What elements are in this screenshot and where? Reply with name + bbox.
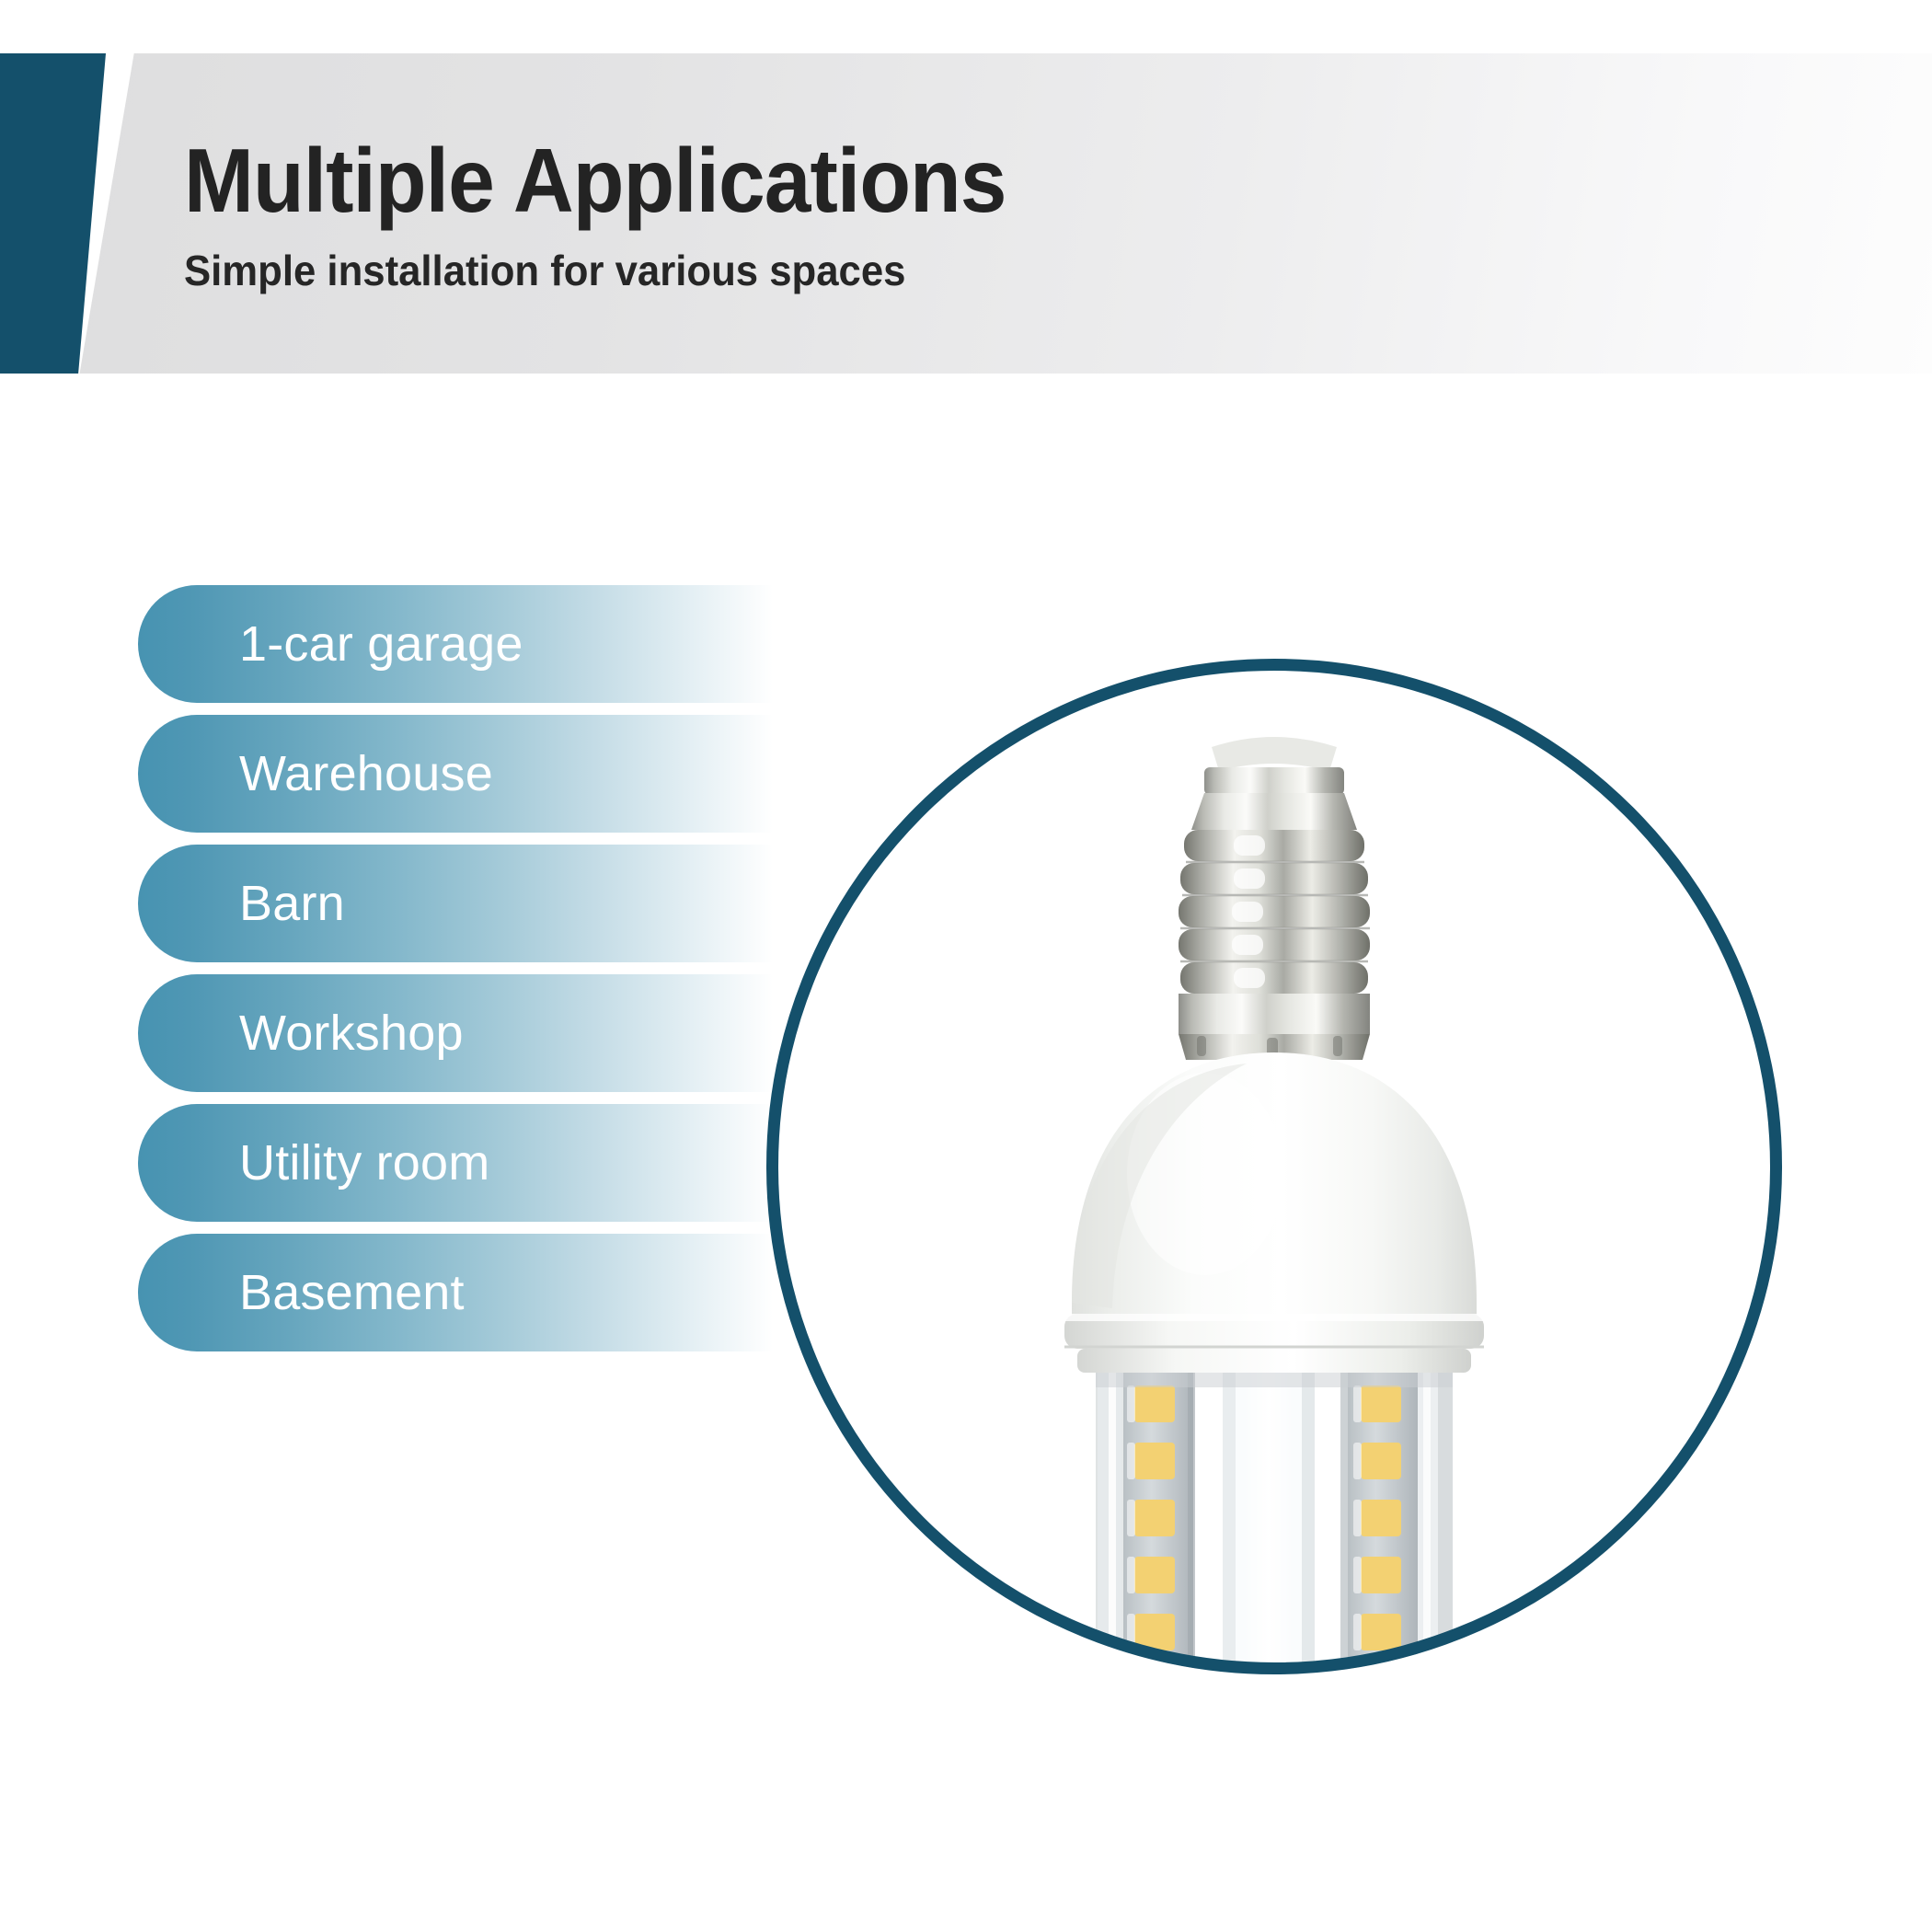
list-item[interactable]: Warehouse (138, 715, 773, 833)
led-corn-bulb-photo (1017, 659, 1532, 1674)
header-text-block: Multiple Applications Simple installatio… (184, 53, 1068, 374)
application-pill-label: Workshop (239, 1008, 464, 1058)
list-item[interactable]: Basement (138, 1234, 773, 1351)
header-band: Multiple Applications Simple installatio… (0, 53, 1932, 374)
application-pill-label: 1-car garage (239, 619, 523, 669)
page-subtitle: Simple installation for various spaces (184, 249, 1024, 292)
application-pill-label: Barn (239, 879, 345, 928)
list-item[interactable]: Utility room (138, 1104, 773, 1222)
bulb-screw-base (1179, 737, 1370, 1060)
page-title: Multiple Applications (184, 135, 1006, 225)
application-list: 1-car garage Warehouse Barn Workshop Uti… (138, 585, 773, 1351)
list-item[interactable]: Workshop (138, 974, 773, 1092)
bulb-dome-housing (1064, 1052, 1484, 1373)
application-pill-label: Utility room (239, 1138, 489, 1188)
application-pill-label: Warehouse (239, 749, 493, 799)
product-image-circle (766, 659, 1782, 1674)
application-pill-label: Basement (239, 1268, 465, 1317)
list-item[interactable]: Barn (138, 845, 773, 962)
bulb-led-body (1096, 1373, 1453, 1674)
product-photo-clip (766, 659, 1782, 1674)
list-item[interactable]: 1-car garage (138, 585, 773, 703)
